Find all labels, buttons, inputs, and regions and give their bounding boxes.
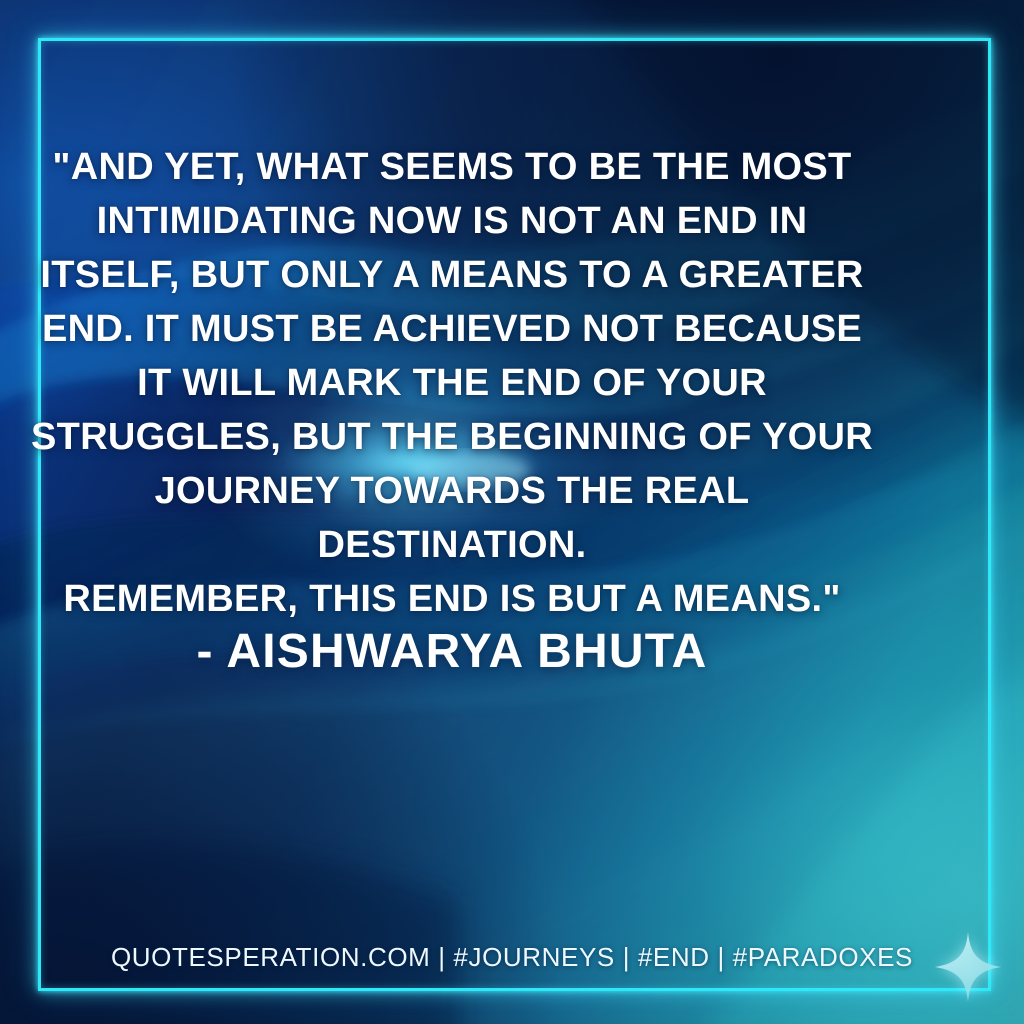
quote-card: "AND YET, WHAT SEEMS TO BE THE MOST INTI…: [0, 0, 1024, 1024]
four-pointed-star-icon: [935, 932, 1001, 1002]
footer-credits: QUOTESPERATION.COM | #JOURNEYS | #END | …: [0, 942, 1024, 973]
author-attribution: - AISHWARYA BHUTA: [24, 624, 880, 679]
quote-text: "AND YET, WHAT SEEMS TO BE THE MOST INTI…: [24, 140, 880, 626]
